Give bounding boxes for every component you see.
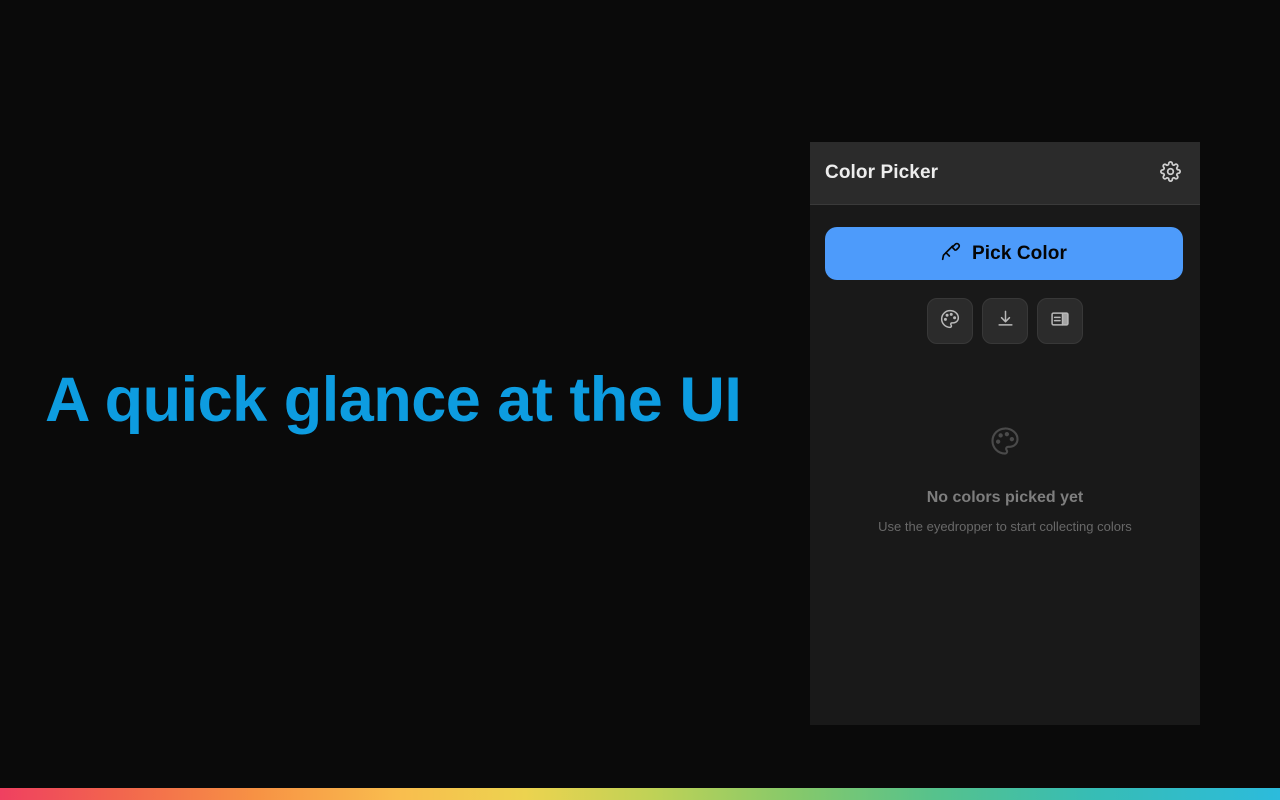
panel-title: Color Picker bbox=[825, 162, 938, 184]
pick-color-label: Pick Color bbox=[972, 243, 1067, 265]
download-icon bbox=[996, 309, 1015, 333]
panel-header: Color Picker bbox=[810, 142, 1200, 205]
eyedropper-icon bbox=[941, 241, 961, 267]
rainbow-gradient-bar bbox=[0, 788, 1280, 800]
palette-button[interactable] bbox=[927, 298, 973, 344]
action-button-row bbox=[825, 298, 1185, 344]
panel-layout-icon bbox=[1050, 309, 1070, 334]
page-title: A quick glance at the UI bbox=[45, 364, 741, 436]
export-button[interactable] bbox=[982, 298, 1028, 344]
panel-body: Pick Color bbox=[810, 205, 1200, 725]
palette-icon bbox=[940, 309, 960, 334]
empty-state: No colors picked yet Use the eyedropper … bbox=[825, 344, 1185, 725]
pick-color-button[interactable]: Pick Color bbox=[825, 227, 1183, 280]
empty-state-subtitle: Use the eyedropper to start collecting c… bbox=[878, 519, 1132, 534]
color-picker-panel: Color Picker Pick Color bbox=[810, 142, 1200, 725]
palette-icon bbox=[990, 426, 1020, 461]
empty-state-title: No colors picked yet bbox=[927, 489, 1084, 507]
settings-button[interactable] bbox=[1155, 158, 1185, 188]
layout-button[interactable] bbox=[1037, 298, 1083, 344]
gear-icon bbox=[1160, 161, 1181, 185]
